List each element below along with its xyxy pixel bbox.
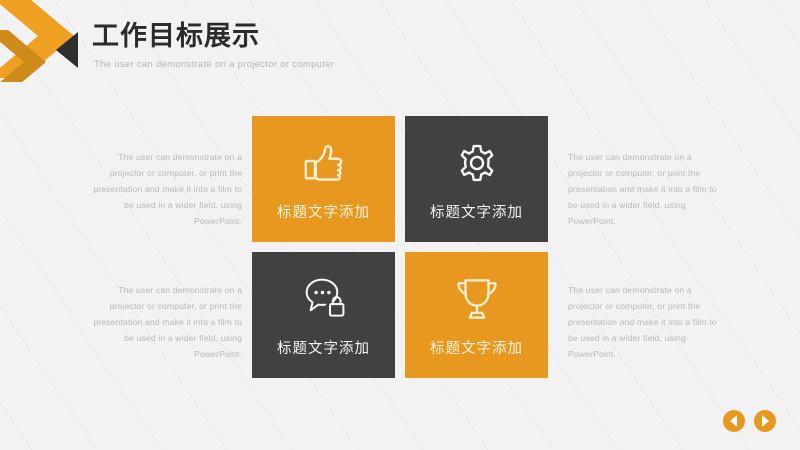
arrow-chevron-logo (0, 0, 100, 82)
body-text-bottom-left: The user can demonstrate on a projector … (92, 283, 242, 362)
body-text-top-right: The user can demonstrate on a projector … (568, 150, 718, 229)
gear-icon (455, 137, 499, 189)
body-text-top-left: The user can demonstrate on a projector … (92, 150, 242, 229)
card-thumbs-up[interactable]: 标题文字添加 (252, 116, 395, 242)
chevron-right-icon (760, 415, 770, 427)
card-chat-lock[interactable]: 标题文字添加 (252, 252, 395, 378)
card-trophy[interactable]: 标题文字添加 (405, 252, 548, 378)
card-label: 标题文字添加 (277, 337, 370, 358)
chat-lock-icon (300, 273, 348, 325)
slide-navigation (723, 410, 776, 432)
card-label: 标题文字添加 (430, 337, 523, 358)
card-grid: 标题文字添加 标题文字添加 (252, 116, 548, 378)
trophy-icon (455, 273, 499, 325)
card-label: 标题文字添加 (277, 201, 370, 222)
chevron-left-icon (729, 415, 739, 427)
next-slide-button[interactable] (754, 410, 776, 432)
card-label: 标题文字添加 (430, 201, 523, 222)
page-title: 工作目标展示 (92, 22, 512, 52)
header: 工作目标展示 The user can demonstrate on a pro… (92, 22, 512, 70)
thumbs-up-icon (301, 137, 347, 189)
slide-canvas: 工作目标展示 The user can demonstrate on a pro… (0, 0, 800, 450)
prev-slide-button[interactable] (723, 410, 745, 432)
logo-chevron-top-upper (0, 0, 74, 36)
page-subtitle: The user can demonstrate on a projector … (94, 59, 512, 70)
body-text-bottom-right: The user can demonstrate on a projector … (568, 283, 718, 362)
card-gear[interactable]: 标题文字添加 (405, 116, 548, 242)
